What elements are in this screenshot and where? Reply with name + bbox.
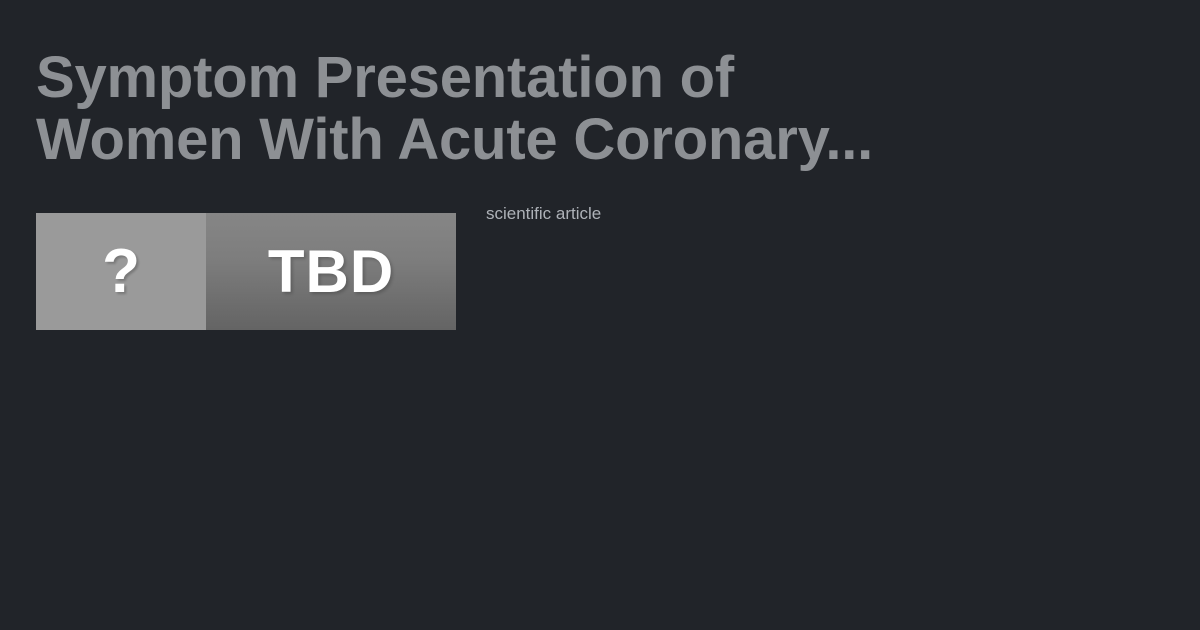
card-description: scientific article xyxy=(486,203,601,225)
thumbnail-left-panel: ? xyxy=(36,213,206,330)
card-body-row: ? TBD scientific article xyxy=(36,213,1164,343)
tbd-label: TBD xyxy=(268,242,394,302)
question-mark-placeholder-icon: ? xyxy=(102,241,140,303)
thumbnail-placeholder[interactable]: ? TBD xyxy=(36,213,456,330)
og-preview-card: Symptom Presentation of Women With Acute… xyxy=(0,0,1200,630)
page-title: Symptom Presentation of Women With Acute… xyxy=(36,47,1156,171)
thumbnail-right-panel: TBD xyxy=(206,213,456,330)
